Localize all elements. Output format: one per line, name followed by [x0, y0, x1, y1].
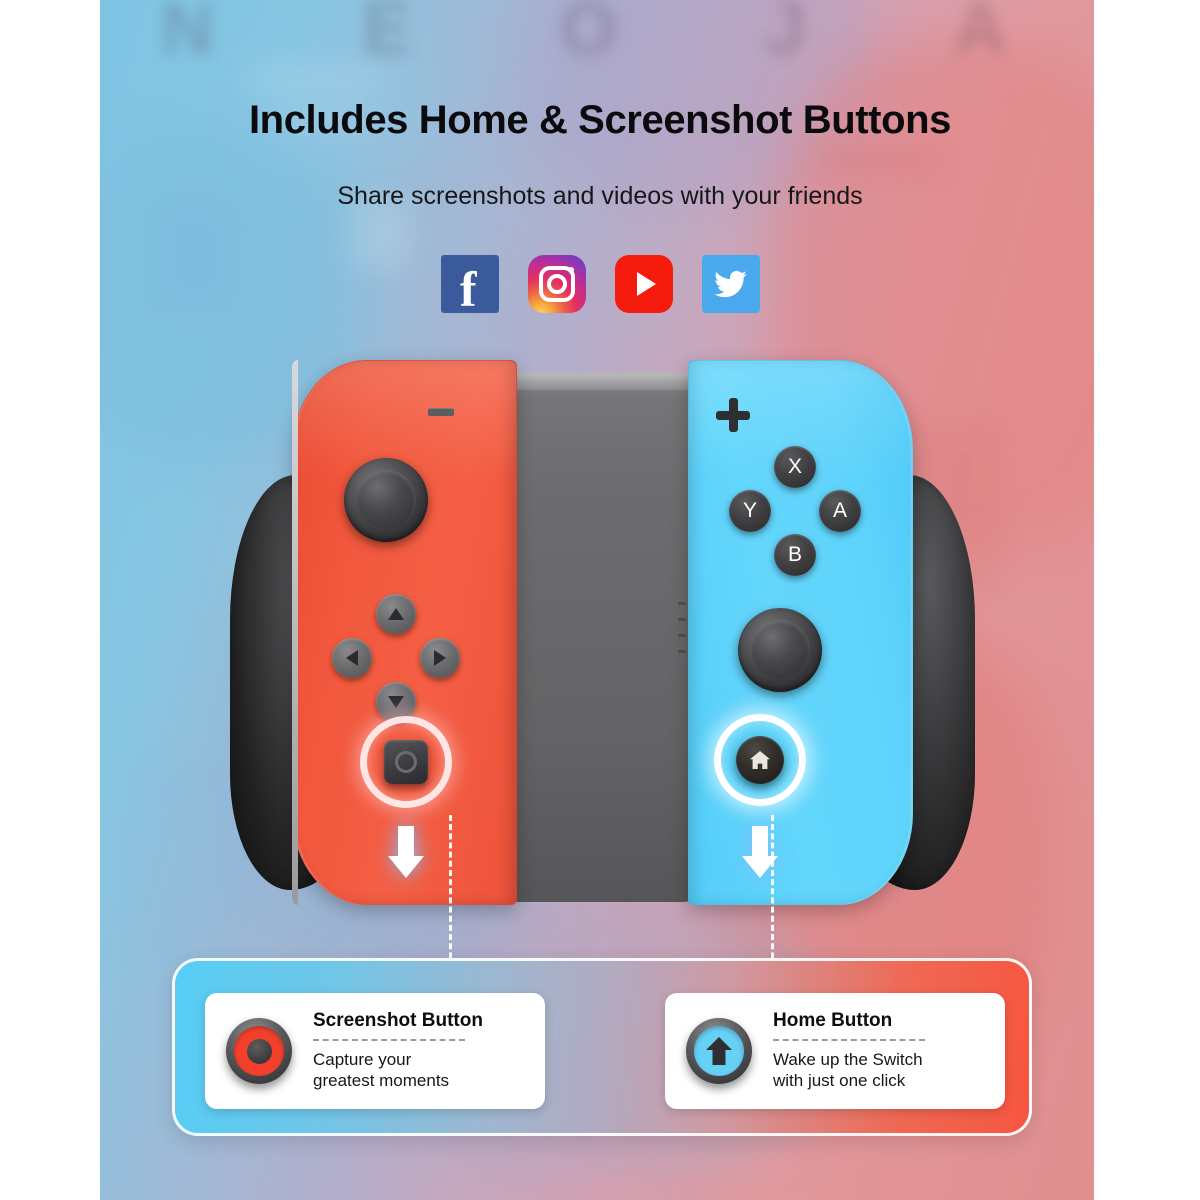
screenshot-feature-card: Screenshot Button Capture your greatest … [205, 993, 545, 1109]
a-button[interactable]: A [819, 490, 861, 532]
dpad-right-button[interactable] [420, 638, 460, 678]
center-top-lip [492, 374, 696, 390]
dpad-up-button[interactable] [376, 594, 416, 634]
home-pointer-arrow [739, 826, 781, 882]
left-analog-stick[interactable] [344, 458, 428, 542]
home-feature-card: Home Button Wake up the Switch with just… [665, 993, 1005, 1109]
page-subtitle: Share screenshots and videos with your f… [0, 182, 1200, 211]
screenshot-card-body-line1: Capture your [313, 1050, 483, 1071]
controller-center-body [488, 372, 700, 902]
home-card-body: Wake up the Switch with just one click [773, 1050, 925, 1091]
product-feature-banner: N E O J A Includes Home & Screenshot But… [0, 0, 1200, 1200]
home-button-icon [686, 1018, 752, 1084]
plus-button[interactable] [716, 398, 750, 432]
screenshot-pointer-arrow [385, 826, 427, 882]
instagram-dot [568, 267, 574, 273]
screenshot-card-text: Screenshot Button Capture your greatest … [313, 1010, 497, 1091]
instagram-icon[interactable] [528, 255, 586, 313]
minus-button[interactable] [428, 408, 454, 416]
home-card-icon-wrap [665, 1018, 773, 1084]
joycon-controller: X Y A B [230, 360, 975, 920]
screenshot-card-divider [313, 1039, 465, 1041]
b-button[interactable]: B [774, 534, 816, 576]
home-card-title: Home Button [773, 1010, 925, 1032]
home-card-text: Home Button Wake up the Switch with just… [773, 1010, 939, 1091]
dpad-left-button[interactable] [332, 638, 372, 678]
facebook-glyph: f [460, 264, 477, 314]
home-arrow-glyph [704, 1035, 734, 1067]
youtube-play-glyph [637, 272, 656, 296]
screenshot-card-icon-wrap [205, 1018, 313, 1084]
home-card-body-line1: Wake up the Switch [773, 1050, 925, 1071]
screenshot-card-body-line2: greatest moments [313, 1071, 483, 1092]
left-joycon-rail [292, 360, 298, 905]
home-card-body-line2: with just one click [773, 1071, 925, 1092]
y-button[interactable]: Y [729, 490, 771, 532]
feature-panel: Screenshot Button Capture your greatest … [172, 958, 1032, 1136]
youtube-icon[interactable] [615, 255, 673, 313]
home-highlight-ring [714, 714, 806, 806]
social-icons-row: f [0, 255, 1200, 313]
screenshot-card-body: Capture your greatest moments [313, 1050, 483, 1091]
facebook-icon[interactable]: f [441, 255, 499, 313]
instagram-lens [547, 274, 567, 294]
twitter-icon[interactable] [702, 255, 760, 313]
background-ghost-text: N E O J A [100, 0, 1094, 71]
left-joycon [292, 360, 517, 905]
screenshot-highlight-ring [360, 716, 452, 808]
twitter-bird-glyph [712, 267, 750, 301]
right-analog-stick[interactable] [738, 608, 822, 692]
home-card-divider [773, 1039, 925, 1041]
screenshot-button-icon [226, 1018, 292, 1084]
right-joycon: X Y A B [688, 360, 913, 905]
page-title: Includes Home & Screenshot Buttons [0, 98, 1200, 143]
screenshot-card-title: Screenshot Button [313, 1010, 483, 1032]
center-vents-right [678, 602, 686, 666]
x-button[interactable]: X [774, 446, 816, 488]
